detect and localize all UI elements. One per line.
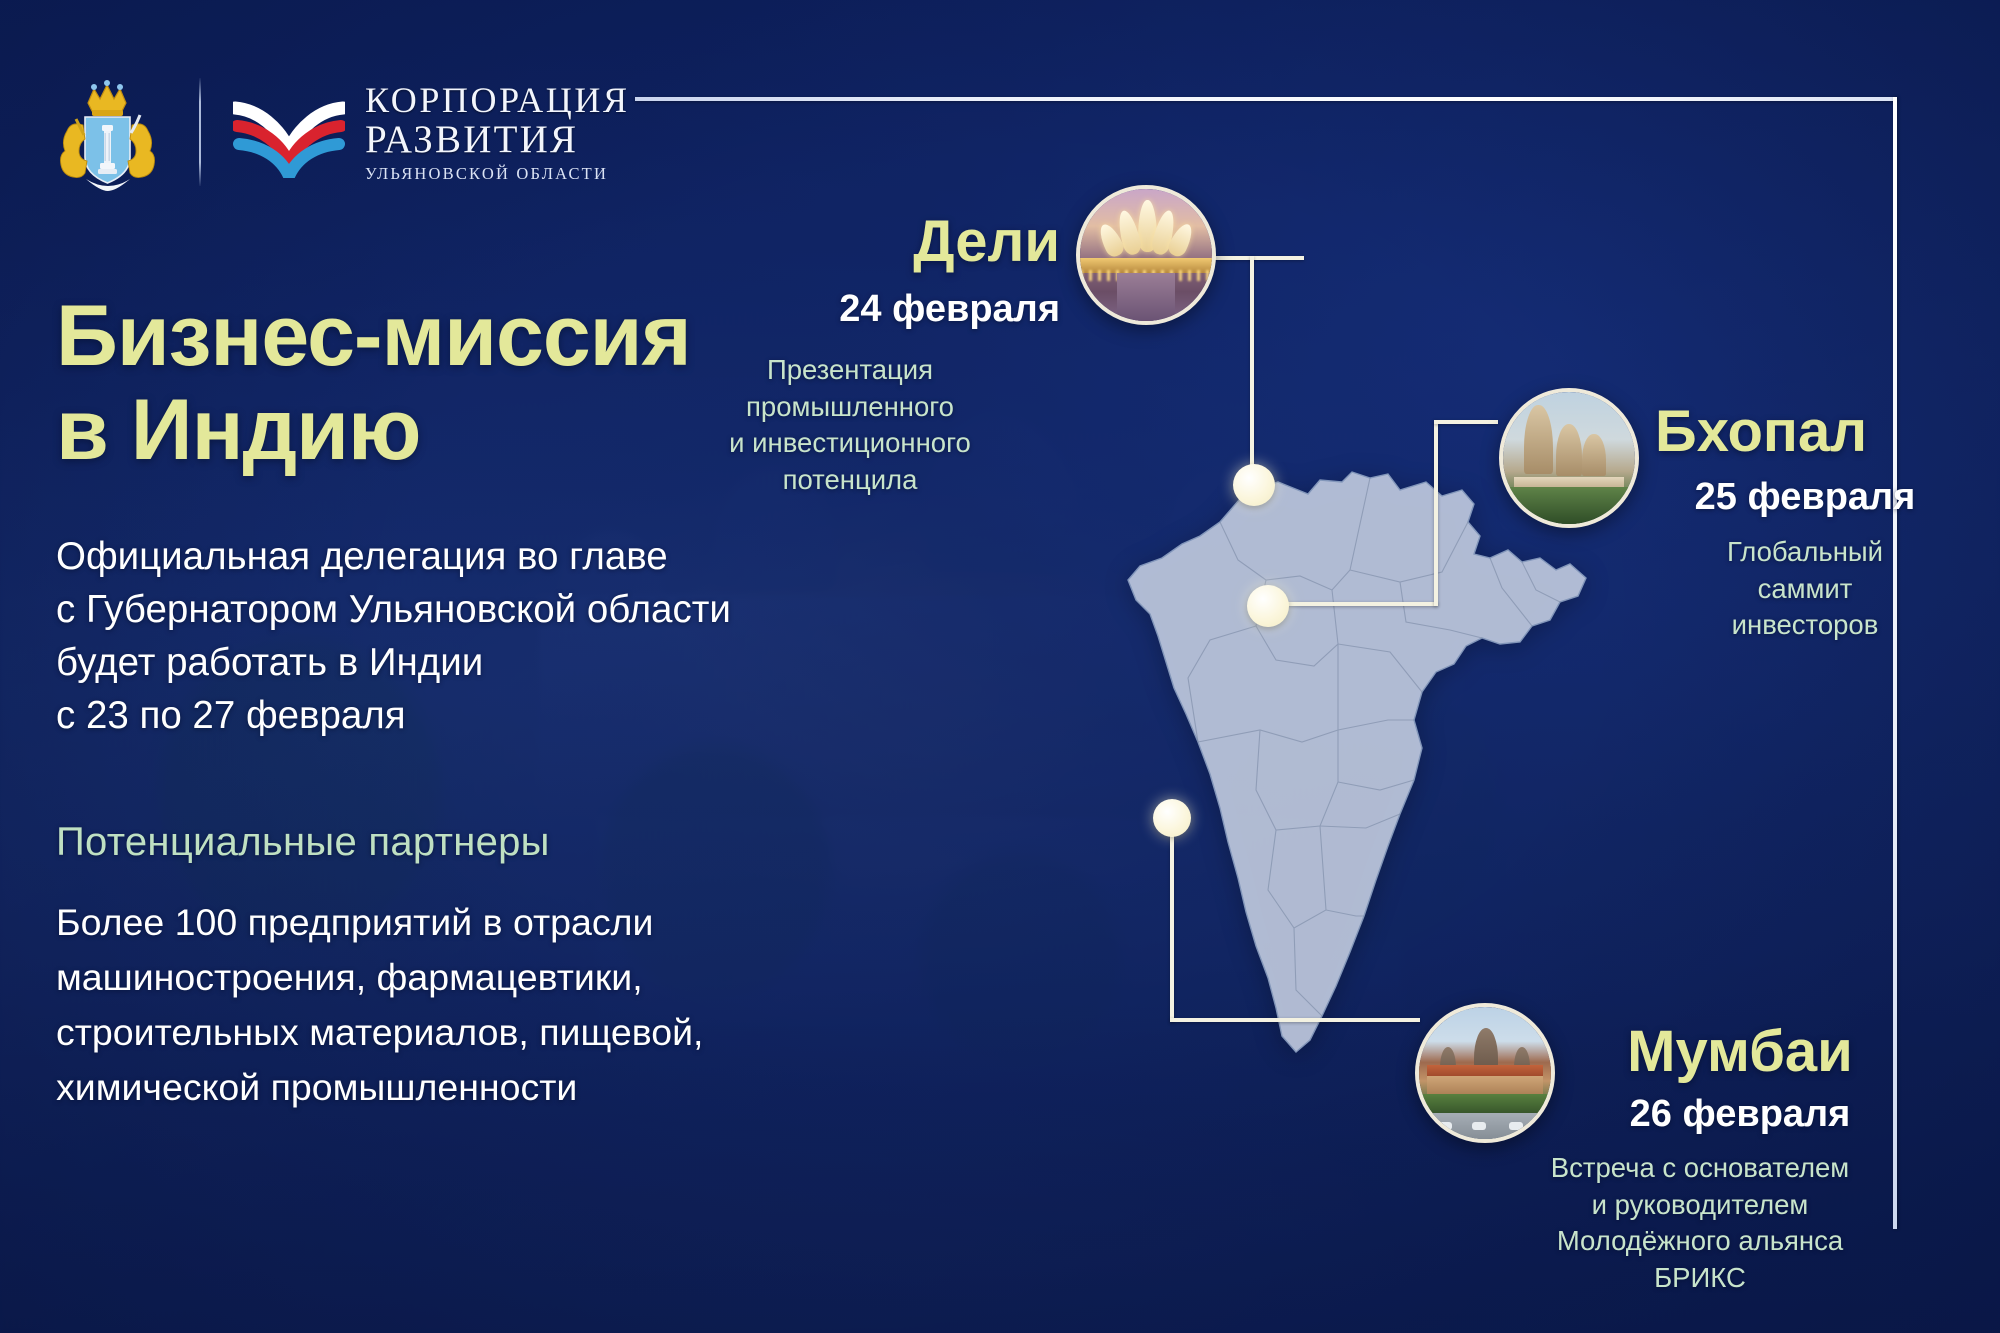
city-description-mumbai: Встреча с основателем и руководителем Мо… [1480,1150,1920,1296]
city-description-bhopal: Глобальный саммит инвесторов [1625,534,1985,644]
connector-mumbai-vertical [1170,832,1174,1022]
poster-root: КОРПОРАЦИЯ РАЗВИТИЯ УЛЬЯНОВСКОЙ ОБЛАСТИ … [0,0,2000,1333]
frame-top-line [635,97,1897,101]
city-name-bhopal: Бхопал [1655,398,1985,465]
partners-line-1: Более 100 предприятий в отрасли [56,895,816,950]
city-date-delhi: 24 февраля [640,288,1060,331]
partners-line-3: строительных материалов, пищевой, [56,1005,816,1060]
tricolor-swoosh-icon [233,86,345,178]
mumbai-cst-photo [1415,1003,1555,1143]
city-name-mumbai: Мумбаи [1570,1018,1910,1085]
connector-delhi-vertical [1250,256,1254,482]
intro-paragraph: Официальная делегация во главе с Губерна… [56,531,816,742]
connector-mumbai-horizontal [1170,1018,1420,1022]
lotus-temple-photo [1076,185,1216,325]
partners-line-4: химической промышленности [56,1060,816,1115]
logo-divider [199,78,201,186]
intro-line-1: Официальная делегация во главе [56,531,816,584]
intro-line-3: будет работать в Индии [56,637,816,690]
intro-line-2: с Губернатором Ульяновской области [56,584,816,637]
map-marker-bhopal[interactable] [1247,585,1289,627]
bhopal-temple-photo [1499,388,1639,528]
city-description-delhi: Презентация промышленного и инвестиционн… [640,352,1060,498]
ulyanovsk-coat-of-arms-icon [50,73,165,191]
partners-line-2: машиностроения, фармацевтики, [56,950,816,1005]
logo-line-2: РАЗВИТИЯ [365,120,630,159]
city-name-delhi: Дели [640,208,1060,275]
intro-line-4: с 23 по 27 февраля [56,690,816,743]
india-map [1070,430,1630,1070]
header-logos: КОРПОРАЦИЯ РАЗВИТИЯ УЛЬЯНОВСКОЙ ОБЛАСТИ [50,72,630,192]
partners-paragraph: Более 100 предприятий в отрасли машиност… [56,895,816,1114]
map-marker-delhi[interactable] [1233,464,1275,506]
connector-bhopal-horizontal-2 [1434,420,1498,424]
connector-bhopal-horizontal [1268,602,1438,606]
city-date-mumbai: 26 февраля [1570,1093,1910,1136]
logo-line-3: УЛЬЯНОВСКОЙ ОБЛАСТИ [365,166,630,183]
connector-bhopal-vertical [1434,420,1438,606]
connector-delhi-horizontal [1206,256,1304,260]
map-marker-mumbai[interactable] [1153,799,1191,837]
partners-heading: Потенциальные партнеры [56,820,816,865]
korporaciya-razvitiya-logo: КОРПОРАЦИЯ РАЗВИТИЯ УЛЬЯНОВСКОЙ ОБЛАСТИ [233,82,630,183]
logo-line-1: КОРПОРАЦИЯ [365,82,630,118]
city-date-bhopal: 25 февраля [1625,476,1985,519]
